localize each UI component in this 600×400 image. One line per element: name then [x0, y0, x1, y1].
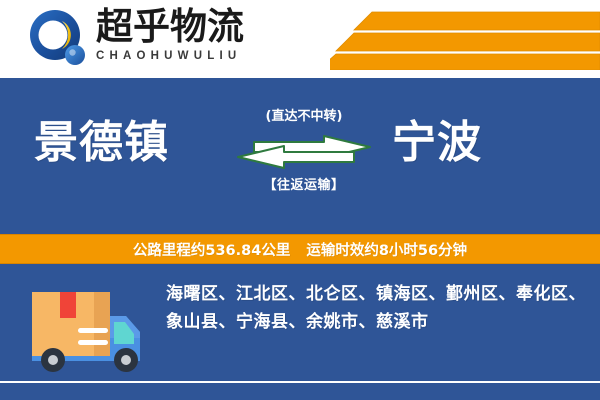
duration-text: 运输时效约8小时56分钟 [306, 239, 467, 260]
brand-lockup: 超乎物流 CHAOHUWULIU [96, 6, 276, 70]
route-info-bar: 公路里程约536.84公里 运输时效约8小时56分钟 [0, 234, 600, 264]
direct-service-note: (直达不中转) [228, 108, 380, 126]
route-middle: (直达不中转) 【往返运输】 [228, 106, 380, 216]
destination-city: 宁波 [392, 116, 482, 170]
district-line: 海曙区、江北区、北仑区、镇海区、鄞州区、奉化区、 [166, 280, 586, 308]
distance-text: 公路里程约536.84公里 [133, 239, 290, 260]
roundtrip-note: 【往返运输】 [228, 177, 380, 195]
brand-name-cn: 超乎物流 [96, 6, 276, 48]
origin-city: 景德镇 [34, 116, 169, 170]
banner-body: 景德镇 (直达不中转) 【往返运输】 宁波 公路里程约536.84公里 [0, 78, 600, 400]
double-headed-arrow-icon [228, 130, 380, 174]
brand-name-en: CHAOHUWULIU [96, 49, 276, 63]
delivery-truck-icon [22, 272, 154, 376]
coverage-area: 海曙区、江北区、北仑区、镇海区、鄞州区、奉化区、 象山县、宁海县、余姚市、慈溪市 [0, 264, 600, 400]
banner-header: 超乎物流 CHAOHUWULIU [0, 0, 600, 78]
orange-speed-stripes-icon [330, 8, 600, 70]
ground-line [0, 381, 600, 383]
logistics-route-banner: 超乎物流 CHAOHUWULIU 景德镇 (直达不中转) [0, 0, 600, 400]
circular-q-logo-icon [28, 8, 90, 70]
district-list: 海曙区、江北区、北仑区、镇海区、鄞州区、奉化区、 象山县、宁海县、余姚市、慈溪市 [166, 280, 586, 336]
district-line: 象山县、宁海县、余姚市、慈溪市 [166, 308, 586, 336]
route-row: 景德镇 (直达不中转) 【往返运输】 宁波 [0, 78, 600, 234]
